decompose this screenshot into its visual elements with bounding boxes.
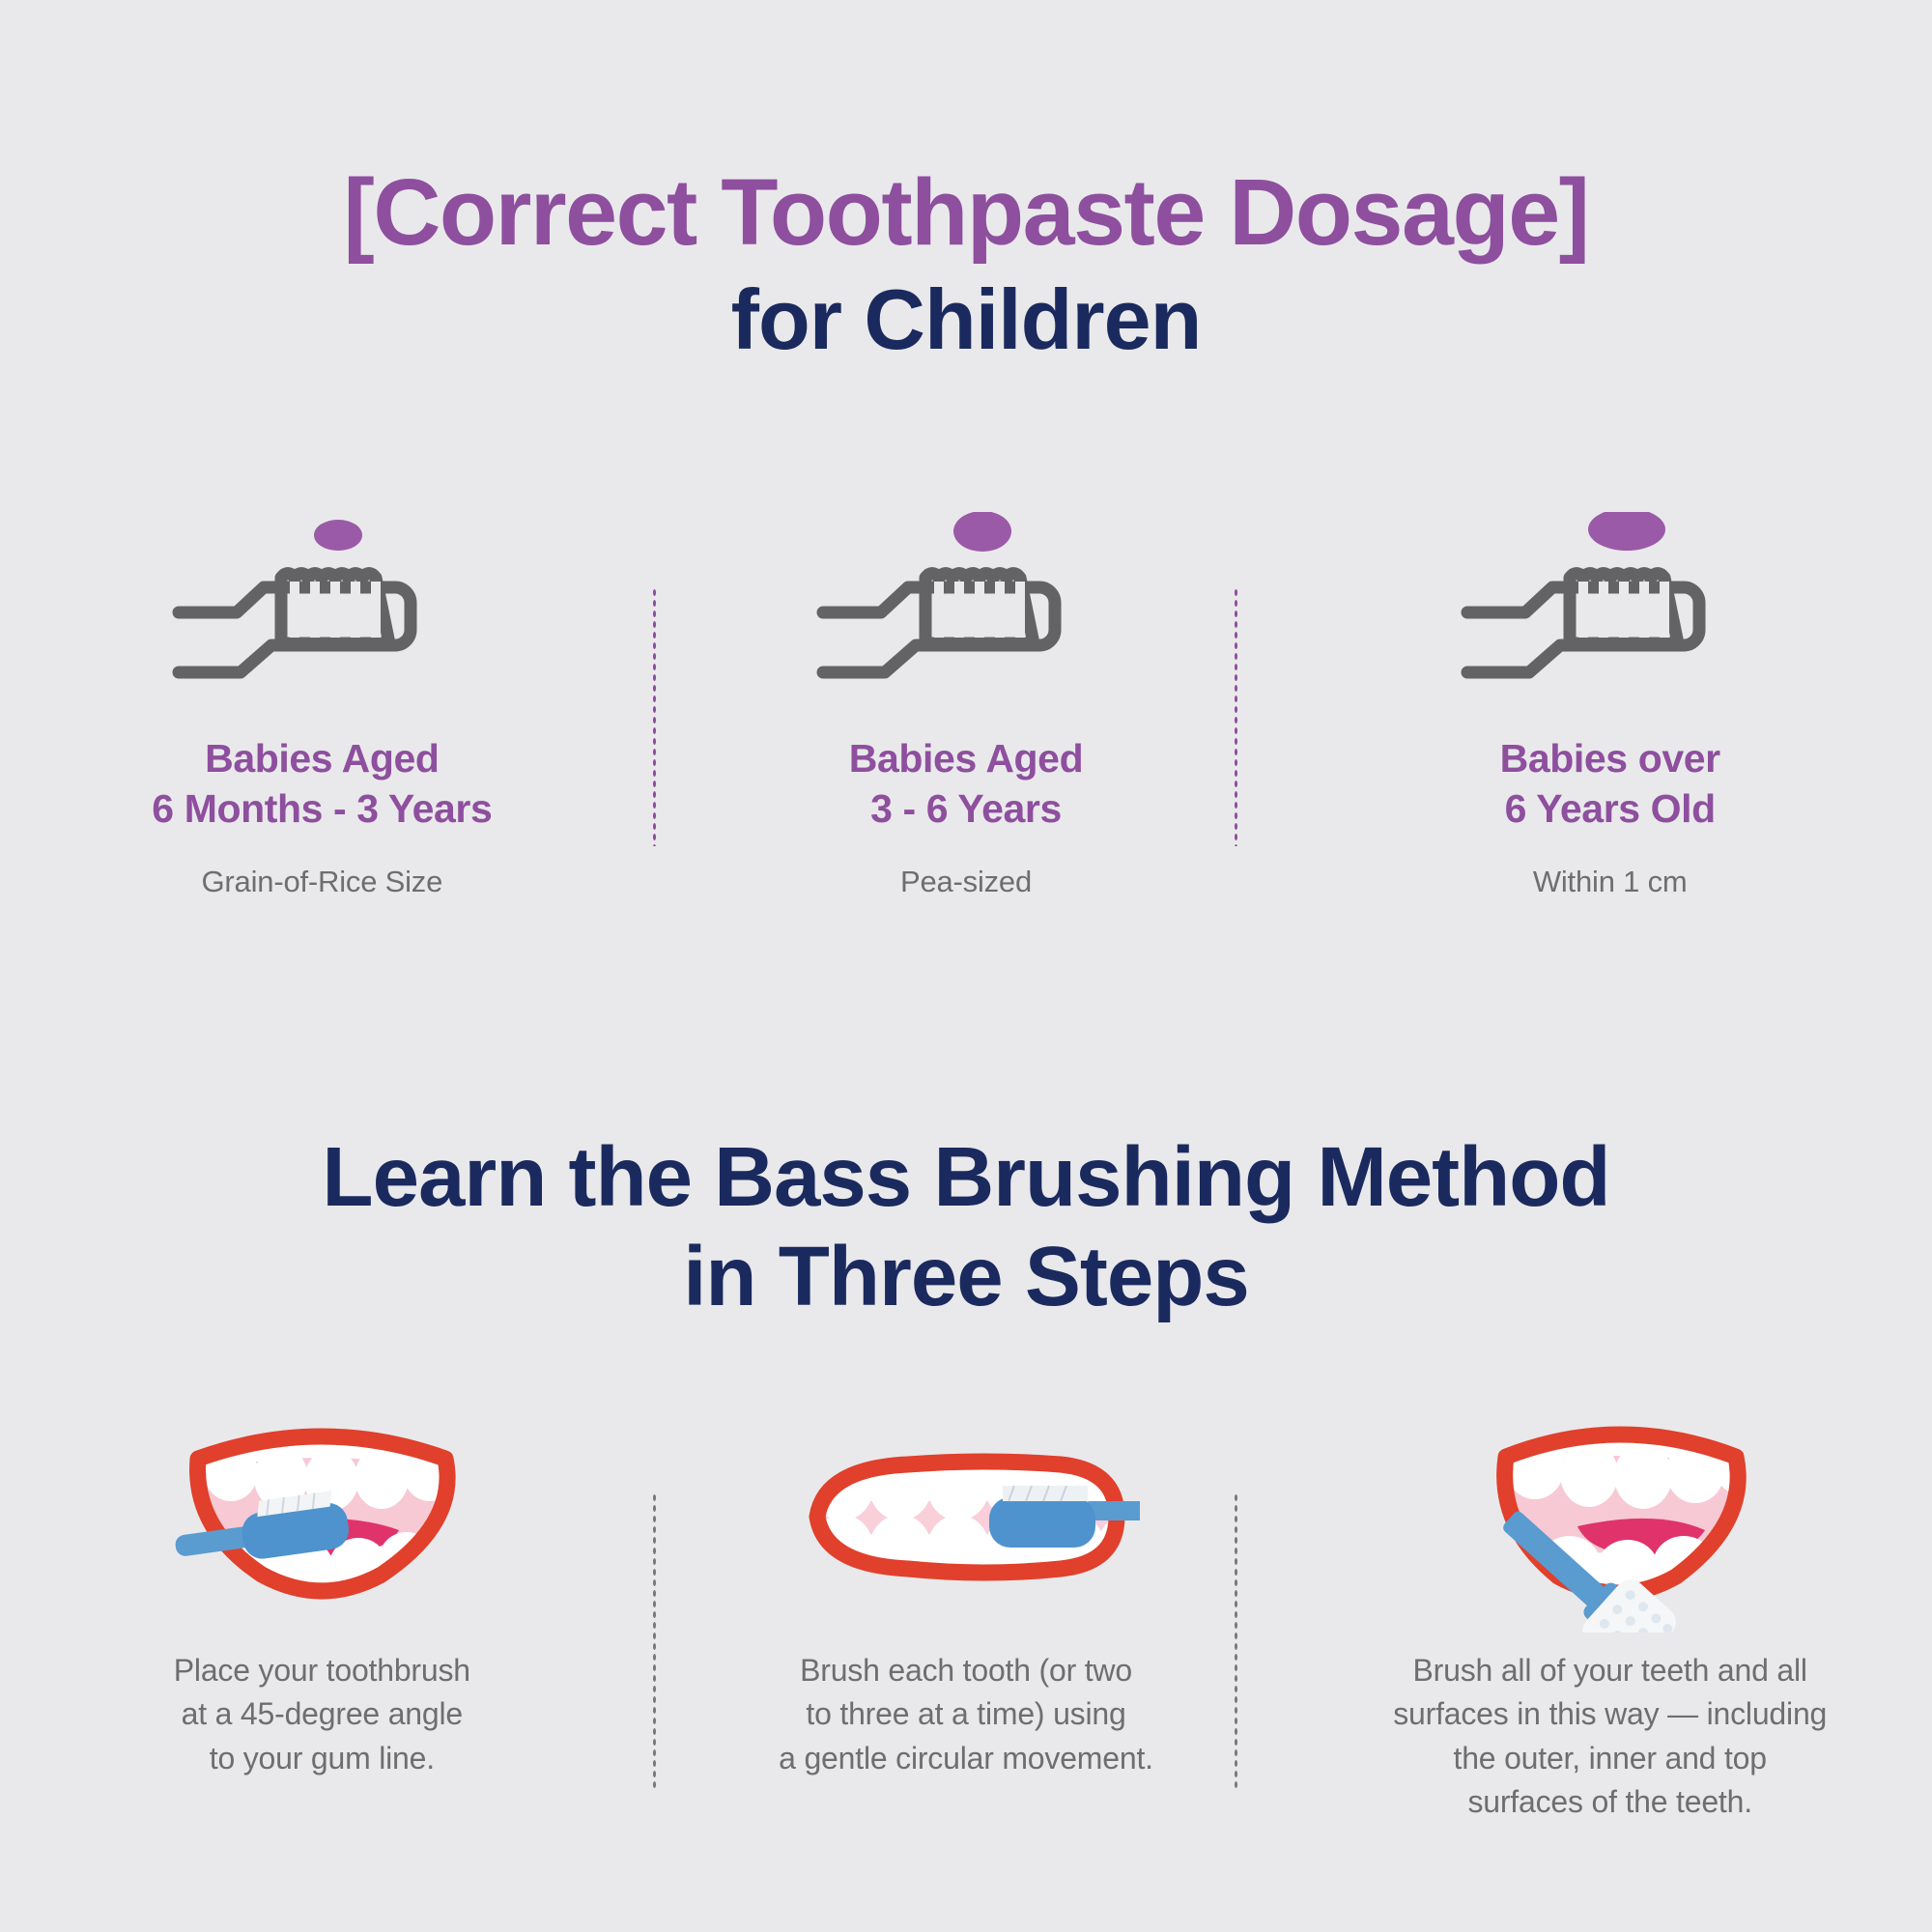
steps-divider-2 [1234, 1492, 1238, 1792]
page-title: [Correct Toothpaste Dosage] for Children [0, 162, 1932, 370]
toothbrush-icon-wrap-2 [811, 512, 1121, 691]
step-caption-2-line2: to three at a time) using [806, 1696, 1125, 1731]
dosage-size-label-2: Pea-sized [900, 863, 1032, 901]
step-caption-1-line3: to your gum line. [210, 1741, 435, 1776]
dosage-age-label-2-line1: Babies Aged [849, 736, 1083, 781]
step-caption-3-line2: surfaces in this way — including [1393, 1696, 1827, 1731]
step-icon-wrap-1 [157, 1406, 486, 1628]
dosage-age-label-3-line2: 6 Years Old [1505, 786, 1716, 831]
open-mouth-brush-all-surfaces-icon [1446, 1401, 1775, 1633]
dosage-age-label-3-line1: Babies over [1500, 736, 1720, 781]
toothbrush-with-1cm-paste-icon [1456, 512, 1765, 691]
step-caption-3: Brush all of your teeth and all surfaces… [1393, 1649, 1827, 1825]
closed-mouth-brush-circular-motion-icon [792, 1408, 1140, 1626]
toothbrush-with-pea-paste-icon [811, 512, 1121, 691]
step-caption-1-line2: at a 45-degree angle [182, 1696, 463, 1731]
step-column-1: Place your toothbrush at a 45-degree ang… [0, 1406, 644, 1780]
dosage-age-label-2-line2: 3 - 6 Years [870, 786, 1062, 831]
step-caption-3-line4: surfaces of the teeth. [1467, 1784, 1751, 1819]
dosage-divider-2 [1234, 587, 1238, 846]
dosage-column-1: Babies Aged 6 Months - 3 Years Grain-of-… [0, 512, 644, 901]
step-caption-2: Brush each tooth (or two to three at a t… [779, 1649, 1153, 1780]
dosage-age-label-3: Babies over 6 Years Old [1500, 733, 1720, 835]
dosage-size-label-1: Grain-of-Rice Size [202, 863, 443, 901]
toothbrush-icon-wrap-3 [1456, 512, 1765, 691]
steps-divider-1 [652, 1492, 657, 1792]
page-title-line1: [Correct Toothpaste Dosage] [0, 162, 1932, 264]
steps-row: Place your toothbrush at a 45-degree ang… [0, 1406, 1932, 1825]
dosage-age-label-1: Babies Aged 6 Months - 3 Years [152, 733, 492, 835]
step-caption-1: Place your toothbrush at a 45-degree ang… [174, 1649, 470, 1780]
infographic-page: [Correct Toothpaste Dosage] for Children [0, 0, 1932, 1932]
dosage-column-2: Babies Aged 3 - 6 Years Pea-sized [644, 512, 1289, 901]
step-column-3: Brush all of your teeth and all surfaces… [1288, 1406, 1932, 1825]
dosage-age-label-1-line2: 6 Months - 3 Years [152, 786, 492, 831]
section-heading-line2: in Three Steps [683, 1230, 1248, 1323]
section-heading-line1: Learn the Bass Brushing Method [322, 1130, 1609, 1224]
toothbrush-with-rice-grain-paste-icon [167, 512, 476, 691]
step-icon-wrap-3 [1446, 1406, 1775, 1628]
dosage-column-3: Babies over 6 Years Old Within 1 cm [1288, 512, 1932, 901]
step-caption-3-line1: Brush all of your teeth and all [1413, 1653, 1807, 1688]
step-caption-1-line1: Place your toothbrush [174, 1653, 470, 1688]
dosage-size-label-3: Within 1 cm [1533, 863, 1688, 901]
dosage-age-label-1-line1: Babies Aged [205, 736, 439, 781]
toothbrush-icon-wrap-1 [167, 512, 476, 691]
dosage-divider-1 [652, 587, 657, 846]
page-title-line2: for Children [0, 270, 1932, 370]
section-heading: Learn the Bass Brushing Method in Three … [0, 1128, 1932, 1326]
dosage-age-label-2: Babies Aged 3 - 6 Years [849, 733, 1083, 835]
step-column-2: Brush each tooth (or two to three at a t… [644, 1406, 1289, 1780]
step-icon-wrap-2 [792, 1406, 1140, 1628]
step-caption-2-line3: a gentle circular movement. [779, 1741, 1153, 1776]
open-mouth-brush-at-45-degrees-icon [157, 1408, 486, 1626]
step-caption-2-line1: Brush each tooth (or two [800, 1653, 1132, 1688]
dosage-row: Babies Aged 6 Months - 3 Years Grain-of-… [0, 512, 1932, 901]
step-caption-3-line3: the outer, inner and top [1454, 1741, 1767, 1776]
